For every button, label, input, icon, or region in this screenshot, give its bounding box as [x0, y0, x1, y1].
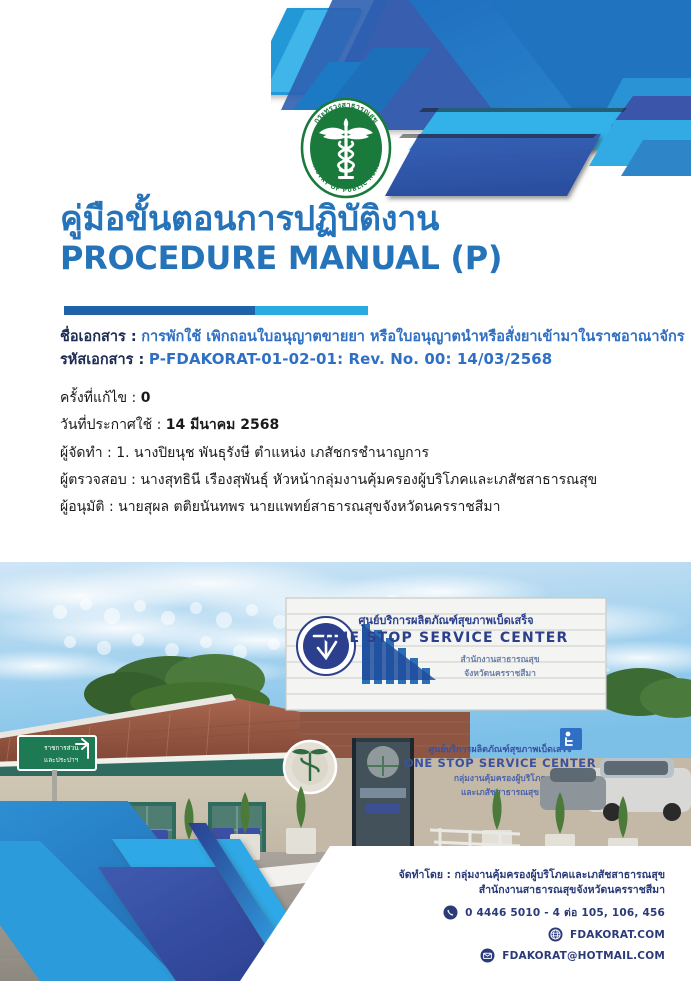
- sign-wall-english: ONE STOP SERVICE CENTER: [404, 756, 596, 770]
- contact-phone-row[interactable]: 0 4446 5010 - 4 ต่อ 105, 106, 456: [399, 904, 665, 921]
- svg-text:และเภสัชสาธารณสุข: และเภสัชสาธารณสุข: [461, 787, 539, 798]
- page-title-thai: คู่มือขั้นตอนการปฏิบัติงาน: [60, 200, 660, 238]
- svg-text:จังหวัดนครราชสีมา: จังหวัดนครราชสีมา: [464, 668, 536, 679]
- contact-website-row[interactable]: FDAKORAT.COM: [399, 927, 665, 942]
- document-meta-primary: ชื่อเอกสาร : การพักใช้ เพิกถอนใบอนุญาตขา…: [60, 326, 685, 371]
- effective-date-row: วันที่ประกาศใช้ : 14 มีนาคม 2568: [60, 412, 685, 439]
- title-block: คู่มือขั้นตอนการปฏิบัติงาน PROCEDURE MAN…: [60, 200, 660, 277]
- document-code-value: P-FDAKORAT-01-02-01: Rev. No. 00: 14/03/…: [149, 350, 552, 368]
- document-code-row: รหัสเอกสาร : P-FDAKORAT-01-02-01: Rev. N…: [60, 348, 685, 371]
- approver-label: ผู้อนุมัติ :: [60, 499, 114, 515]
- divider-segment-light: [255, 306, 368, 315]
- ministry-of-public-health-logo: กระทรวงสาธารณสุข MINISTRY OF PUBLIC HEAL…: [294, 96, 398, 200]
- document-name-label: ชื่อเอกสาร :: [60, 329, 137, 345]
- office-name-line: สำนักงานสาธารณสุขจังหวัดนครราชสีมา: [399, 883, 665, 898]
- svg-text:และประปาฯ: และประปาฯ: [44, 756, 79, 764]
- document-name-row: ชื่อเอกสาร : การพักใช้ เพิกถอนใบอนุญาตขา…: [60, 326, 685, 348]
- sign-top-english: ONE STOP SERVICE CENTER: [324, 630, 569, 646]
- reviewer-row: ผู้ตรวจสอบ : นางสุทธินี เรืองสุพันธุ์ หั…: [60, 467, 685, 494]
- document-cover-page: กระทรวงสาธารณสุข MINISTRY OF PUBLIC HEAL…: [0, 0, 691, 981]
- divider-bar: [64, 306, 368, 315]
- revision-label: ครั้งที่แก้ไข :: [60, 390, 136, 406]
- approver-value: นายสุผล ตติยนันทพร นายแพทย์สาธารณสุขจังห…: [118, 499, 500, 515]
- reviewer-value: นางสุทธินี เรืองสุพันธุ์ หัวหน้ากลุ่มงาน…: [140, 472, 597, 488]
- revision-row: ครั้งที่แก้ไข : 0: [60, 385, 685, 412]
- effective-date-value: 14 มีนาคม 2568: [166, 417, 279, 433]
- page-title-english: PROCEDURE MANUAL (P): [60, 240, 660, 276]
- reviewer-label: ผู้ตรวจสอบ :: [60, 472, 136, 488]
- website-url: FDAKORAT.COM: [570, 929, 665, 941]
- author-label: ผู้จัดทำ :: [60, 445, 112, 461]
- document-code-label: รหัสเอกสาร :: [60, 352, 144, 368]
- sign-top-thai: ศูนย์บริการผลิตภัณฑ์สุขภาพเบ็ดเสร็จ: [358, 613, 533, 628]
- author-row: ผู้จัดทำ : 1. นางปิยนุช พันธุรังษี ตำแหน…: [60, 440, 685, 467]
- contact-email-row[interactable]: FDAKORAT@HOTMAIL.COM: [399, 948, 665, 963]
- divider-segment-dark: [64, 306, 255, 315]
- revision-value: 0: [141, 390, 151, 406]
- svg-text:กลุ่มงานคุ้มครองผู้บริโภค: กลุ่มงานคุ้มครองผู้บริโภค: [454, 773, 547, 784]
- envelope-icon: [480, 948, 495, 963]
- approver-row: ผู้อนุมัติ : นายสุผล ตติยนันทพร นายแพทย์…: [60, 494, 685, 521]
- document-meta-secondary: ครั้งที่แก้ไข : 0 วันที่ประกาศใช้ : 14 ม…: [60, 385, 685, 521]
- phone-icon: [443, 905, 458, 920]
- phone-number: 0 4446 5010 - 4 ต่อ 105, 106, 456: [465, 904, 665, 921]
- effective-date-label: วันที่ประกาศใช้ :: [60, 417, 161, 433]
- svg-text:สำนักงานสาธารณสุข: สำนักงานสาธารณสุข: [460, 654, 539, 665]
- prepared-by-line: จัดทำโดย : กลุ่มงานคุ้มครองผู้บริโภคและเ…: [399, 868, 665, 883]
- document-name-value: การพักใช้ เพิกถอนใบอนุญาตขายยา หรือใบอนุ…: [141, 329, 684, 345]
- author-value: 1. นางปิยนุช พันธุรังษี ตำแหน่ง เภสัชกรช…: [116, 445, 429, 461]
- email-address: FDAKORAT@HOTMAIL.COM: [502, 950, 665, 962]
- globe-icon: [548, 927, 563, 942]
- footer-contact-block: จัดทำโดย : กลุ่มงานคุ้มครองผู้บริโภคและเ…: [399, 868, 665, 963]
- svg-text:ราชการส่วน: ราชการส่วน: [44, 744, 79, 752]
